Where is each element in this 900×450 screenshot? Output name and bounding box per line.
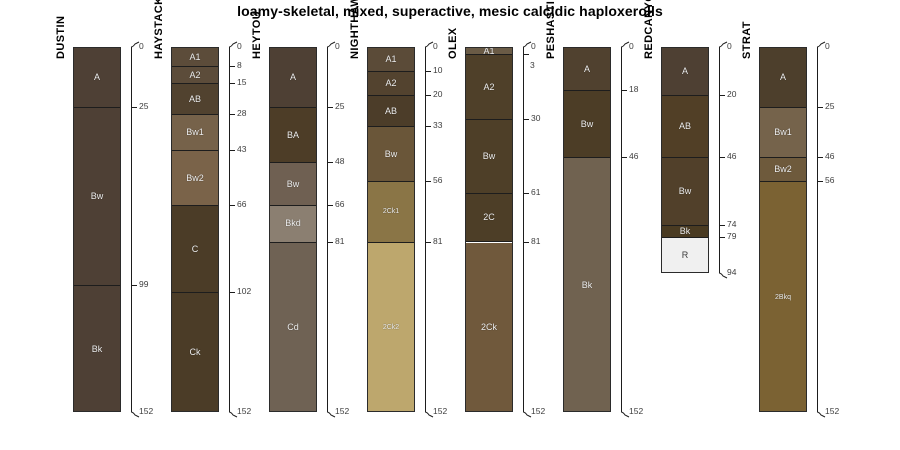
soil-horizon[interactable]: A2 [368,72,414,96]
depth-tick [425,71,431,72]
soil-horizon[interactable]: Bw [466,120,512,194]
depth-axis [523,47,524,412]
depth-tick-label: 0 [531,42,536,51]
depth-tick [523,242,529,243]
depth-tick-label: 81 [433,237,442,246]
profile-column[interactable]: ABABwBkdCd [269,47,317,412]
soil-horizon[interactable]: Bw1 [172,115,218,151]
depth-tick-label: 152 [237,407,251,416]
depth-tick-label: 66 [237,200,246,209]
depth-tick-label: 25 [335,102,344,111]
profile-column[interactable]: A1A2ABBw1Bw2CCk [171,47,219,412]
depth-tick-label: 152 [629,407,643,416]
depth-tick-label: 152 [531,407,545,416]
soil-horizon[interactable]: A1 [466,48,512,55]
depth-tick-label: 48 [335,157,344,166]
profile-name-label: REDCANYON [643,0,655,59]
depth-tick-label: 25 [825,102,834,111]
depth-tick [621,90,627,91]
profile-name-label: OLEX [447,27,459,59]
depth-tick [817,157,823,158]
depth-tick [817,181,823,182]
horizon-label: Bw [91,192,104,201]
horizon-label: BA [287,131,299,140]
soil-horizon[interactable]: A1 [368,48,414,72]
depth-axis [719,47,720,273]
depth-tick [425,126,431,127]
soil-horizon[interactable]: Bkd [270,206,316,242]
depth-axis [131,47,132,412]
depth-tick-label: 0 [139,42,144,51]
depth-tick [817,107,823,108]
profile-name-label: DUSTIN [55,16,67,59]
depth-tick-label: 0 [727,42,732,51]
depth-tick [229,83,235,84]
soil-horizon[interactable]: A [760,48,806,108]
depth-tick [719,237,725,238]
profile-column[interactable]: ABwBk [73,47,121,412]
depth-tick [327,242,333,243]
soil-horizon[interactable]: Bw2 [760,158,806,182]
profile-column[interactable]: A1A2ABBw2Ck12Ck2 [367,47,415,412]
soil-horizon[interactable]: Bw1 [760,108,806,158]
depth-tick-label: 20 [727,90,736,99]
horizon-label: Bw [581,120,594,129]
depth-tick-label: 30 [531,114,540,123]
depth-tick [229,66,235,67]
horizon-label: 2C [483,213,495,222]
depth-tick-label: 0 [335,42,340,51]
soil-horizon[interactable]: A2 [172,67,218,84]
horizon-label: Bk [680,227,691,236]
horizon-label: Bw [679,187,692,196]
soil-horizon[interactable]: Bw2 [172,151,218,206]
depth-tick [425,95,431,96]
depth-tick-label: 20 [433,90,442,99]
horizon-label: Bw1 [774,128,792,137]
soil-horizon[interactable]: AB [368,96,414,127]
depth-tick-label: 0 [825,42,830,51]
depth-tick-label: 152 [335,407,349,416]
depth-tick-label: 8 [237,61,242,70]
horizon-label: R [682,251,689,260]
depth-tick-label: 152 [139,407,153,416]
depth-tick [327,107,333,108]
profile-name-label: NIGHTHAWK [349,0,361,59]
soil-horizon[interactable]: A [564,48,610,91]
horizon-label: A2 [385,79,396,88]
depth-tick-label: 3 [530,61,535,70]
depth-tick [425,181,431,182]
profile-name-label: STRAT [741,21,753,59]
horizon-label: A2 [189,71,200,80]
depth-tick-label: 28 [237,109,246,118]
soil-horizon[interactable]: A1 [172,48,218,67]
depth-tick-label: 56 [433,176,442,185]
horizon-label: C [192,245,199,254]
profile-column[interactable]: A1A2Bw2C2Ck [465,47,513,412]
horizon-label: Bw2 [186,174,204,183]
depth-tick [523,54,529,55]
horizon-label: A1 [385,55,396,64]
depth-axis [229,47,230,412]
depth-tick-label: 99 [139,280,148,289]
depth-tick-label: 25 [139,102,148,111]
depth-tick-label: 61 [531,188,540,197]
depth-axis [327,47,328,412]
profile-name-label: PESHASTIN [545,0,557,59]
depth-tick-label: 43 [237,145,246,154]
soil-horizon[interactable]: Bk [662,226,708,238]
soil-horizon[interactable]: A2 [466,55,512,120]
soil-horizon[interactable]: BA [270,108,316,163]
depth-tick-label: 33 [433,121,442,130]
profile-name-label: HAYSTACK [153,0,165,59]
horizon-label: 2Bkq [775,294,791,301]
horizon-label: Bk [582,281,593,290]
depth-tick [131,285,137,286]
horizon-label: A [94,73,100,82]
horizon-label: A2 [483,83,494,92]
depth-tick-label: 102 [237,287,251,296]
depth-tick-label: 15 [237,78,246,87]
soil-horizon[interactable]: R [662,238,708,273]
depth-tick [621,157,627,158]
horizon-label: A1 [189,53,200,62]
horizon-label: 2Ck1 [383,208,399,215]
soil-horizon[interactable]: 2Ck2 [368,243,414,413]
depth-tick-label: 81 [531,237,540,246]
horizon-label: Bw [385,150,398,159]
depth-tick-label: 81 [335,237,344,246]
depth-axis [425,47,426,412]
depth-tick-label: 10 [433,66,442,75]
horizon-label: Bw [483,152,496,161]
depth-tick [523,193,529,194]
depth-tick [719,95,725,96]
soil-horizon[interactable]: Cd [270,243,316,413]
horizon-label: Bk [92,345,103,354]
soil-horizon[interactable]: Bw [368,127,414,182]
horizon-label: A [584,65,590,74]
soil-horizon[interactable]: Bw [564,91,610,158]
horizon-label: Bw2 [774,165,792,174]
depth-tick [327,205,333,206]
horizon-label: AB [679,122,691,131]
horizon-label: Ck [190,348,201,357]
depth-tick [523,119,529,120]
depth-tick [425,242,431,243]
horizon-label: 2Ck2 [383,324,399,331]
depth-tick [229,292,235,293]
depth-tick-label: 74 [727,220,736,229]
horizon-label: 2Ck [481,323,497,332]
depth-tick-label: 18 [629,85,638,94]
horizon-label: Bw [287,180,300,189]
soil-horizon[interactable]: Bw [270,163,316,206]
depth-tick-label: 46 [727,152,736,161]
horizon-label: A [780,73,786,82]
depth-tick [131,107,137,108]
depth-tick-label: 0 [629,42,634,51]
soil-horizon[interactable]: AB [662,96,708,158]
depth-tick-label: 79 [727,232,736,241]
depth-tick-label: 46 [629,152,638,161]
depth-tick-label: 46 [825,152,834,161]
depth-tick-label: 0 [237,42,242,51]
depth-tick [719,157,725,158]
depth-tick [327,162,333,163]
depth-axis [621,47,622,412]
depth-tick-label: 66 [335,200,344,209]
soil-horizon[interactable]: Bk [564,158,610,412]
horizon-label: Bkd [285,219,301,228]
soil-horizon[interactable]: Bw [662,158,708,225]
depth-axis [817,47,818,412]
depth-tick-label: 56 [825,176,834,185]
soil-horizon[interactable]: Bk [74,286,120,412]
depth-tick-label: 94 [727,268,736,277]
soil-profile-plot: loamy-skeletal, mixed, superactive, mesi… [0,0,900,450]
profile-column[interactable]: AABBwBkR [661,47,709,273]
soil-horizon[interactable]: Ck [172,293,218,412]
depth-tick [229,205,235,206]
soil-horizon[interactable]: AB [172,84,218,115]
soil-horizon[interactable]: Bw [74,108,120,286]
soil-horizon[interactable]: A [662,48,708,96]
profile-name-label: HEYTOU [251,11,263,59]
profile-column[interactable]: ABw1Bw22Bkq [759,47,807,412]
horizon-label: Cd [287,323,299,332]
depth-tick-label: 152 [433,407,447,416]
soil-horizon[interactable]: 2Bkq [760,182,806,412]
soil-horizon[interactable]: A [270,48,316,108]
page-title: loamy-skeletal, mixed, superactive, mesi… [0,3,900,19]
depth-tick [229,150,235,151]
depth-tick-label: 0 [433,42,438,51]
soil-horizon[interactable]: 2Ck [466,243,512,413]
horizon-label: AB [189,95,201,104]
horizon-label: A [290,73,296,82]
horizon-label: AB [385,107,397,116]
depth-tick [719,225,725,226]
depth-tick-label: 152 [825,407,839,416]
soil-horizon[interactable]: C [172,206,218,292]
soil-horizon[interactable]: 2C [466,194,512,242]
horizon-label: Bw1 [186,128,204,137]
soil-horizon[interactable]: 2Ck1 [368,182,414,242]
soil-horizon[interactable]: A [74,48,120,108]
depth-tick [229,114,235,115]
profile-column[interactable]: ABwBk [563,47,611,412]
horizon-label: A [682,67,688,76]
